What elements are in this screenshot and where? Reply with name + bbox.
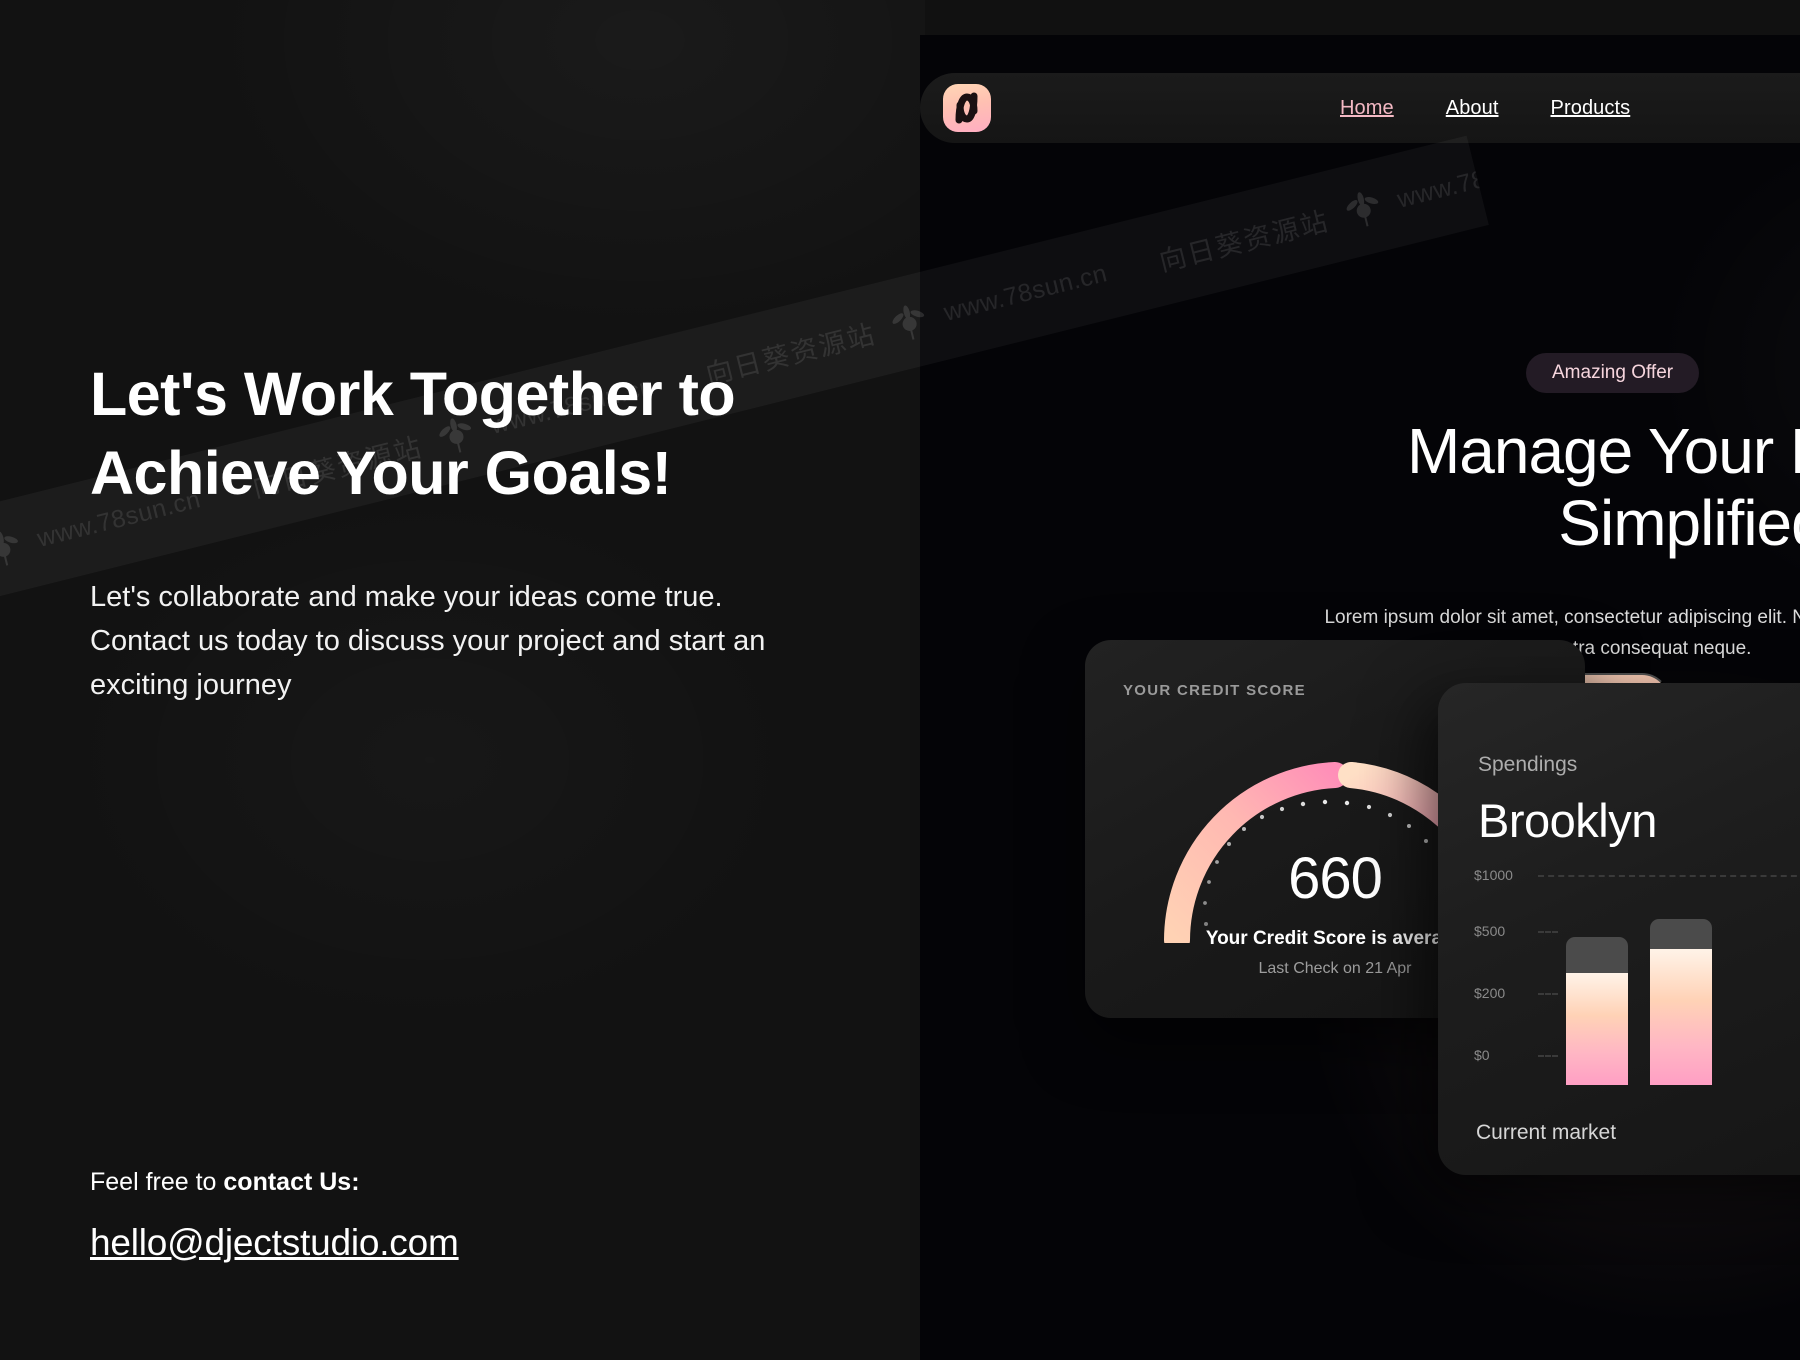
spendings-card: Spendings Brooklyn $1000 $500 $200 $0 (1438, 683, 1800, 1175)
bar-2-cap (1650, 919, 1712, 949)
axis-tick-200: $200 (1474, 985, 1532, 1001)
axis-tick-1000: $1000 (1474, 867, 1532, 883)
nav-link-home[interactable]: Home (1340, 97, 1394, 120)
axis-tick-0: $0 (1474, 1047, 1532, 1063)
contact-prompt-plain: Feel free to (90, 1168, 223, 1196)
page-title: Let's Work Together to Achieve Your Goal… (90, 355, 890, 514)
hero-title-line2: Simplified (1558, 487, 1800, 559)
spendings-bar-chart: $1000 $500 $200 $0 (1474, 875, 1800, 1085)
screenshot-root: Let's Work Together to Achieve Your Goal… (0, 0, 1800, 1360)
contact-prompt: Feel free to contact Us: (90, 1168, 360, 1197)
bar-1-cap (1566, 937, 1628, 973)
bar-1-body (1566, 973, 1628, 1085)
credit-score-label: YOUR CREDIT SCORE (1123, 682, 1306, 699)
dject-logo-icon[interactable] (943, 84, 991, 132)
hero-title-line1: Manage Your Money (1407, 415, 1800, 487)
hero-description-line1: Lorem ipsum dolor sit amet, consectetur … (1324, 607, 1800, 628)
gridline-500 (1538, 931, 1558, 933)
preview-navbar: Home About Products (920, 73, 1800, 143)
hero-title: Manage Your Money Simplified (1312, 415, 1800, 560)
website-preview-panel: Home About Products Amazing Offer Manage… (920, 35, 1800, 1360)
promo-badge: Amazing Offer (1526, 353, 1699, 393)
gridline-1000 (1538, 875, 1800, 877)
bar-2-body (1650, 949, 1712, 1085)
contact-email-link[interactable]: hello@djectstudio.com (90, 1222, 459, 1264)
gridline-200 (1538, 993, 1558, 995)
spendings-name: Brooklyn (1478, 793, 1657, 848)
contact-prompt-bold: contact Us: (223, 1168, 359, 1196)
contact-description: Let's collaborate and make your ideas co… (90, 575, 820, 707)
gridline-0 (1538, 1055, 1558, 1057)
axis-tick-500: $500 (1474, 923, 1532, 939)
nav-link-about[interactable]: About (1446, 97, 1499, 120)
spendings-footer: Current market (1476, 1121, 1616, 1145)
nav-links: Home About Products (1340, 73, 1630, 143)
bar-2 (1650, 919, 1712, 1085)
contact-section: Let's Work Together to Achieve Your Goal… (0, 0, 925, 1360)
nav-link-products[interactable]: Products (1551, 97, 1631, 120)
spendings-label: Spendings (1478, 753, 1577, 777)
bar-1 (1566, 937, 1628, 1085)
